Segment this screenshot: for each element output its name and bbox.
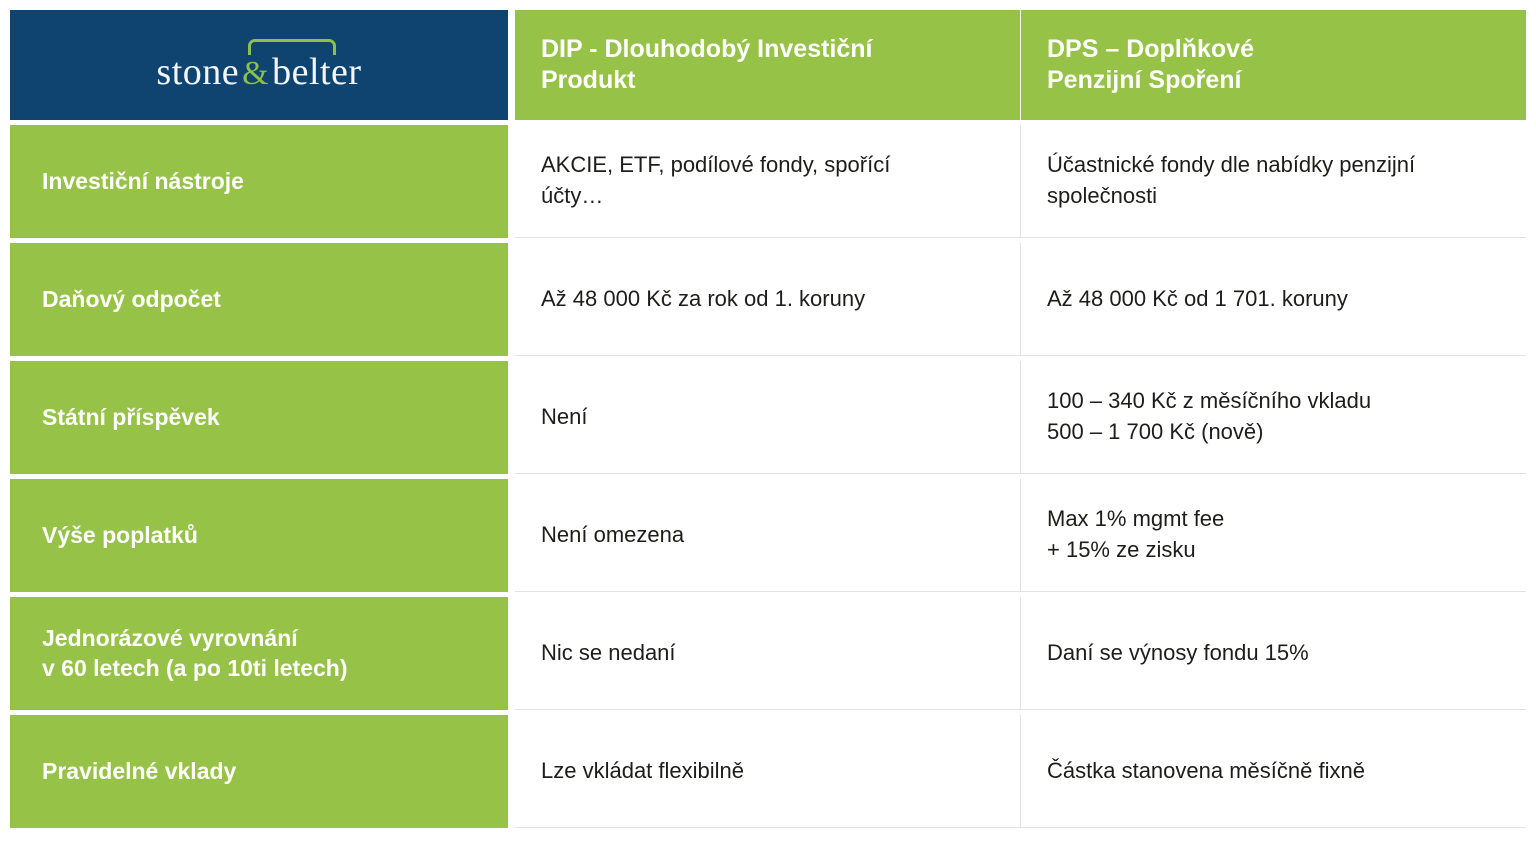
comparison-table: stone&belter DIP - Dlouhodobý Investiční… xyxy=(10,10,1526,835)
table-cell-dip: Lze vkládat flexibilně xyxy=(515,715,1020,828)
cell-value: Až 48 000 Kč za rok od 1. koruny xyxy=(541,284,865,315)
table-cell-dip: Nic se nedaní xyxy=(515,597,1020,710)
row-label: Investiční nástroje xyxy=(42,167,244,197)
logo-text: stone&belter xyxy=(156,51,361,93)
table-cell-dps: Částka stanovena měsíčně fixně xyxy=(1021,715,1526,828)
column-gap xyxy=(508,479,515,592)
row-label: Daňový odpočet xyxy=(42,285,221,315)
column-gap xyxy=(508,597,515,710)
cell-value: Částka stanovena měsíčně fixně xyxy=(1047,756,1365,787)
table-cell-dps: Max 1% mgmt fee + 15% ze zisku xyxy=(1021,479,1526,592)
table-row-label-statni-prispevek: Státní příspěvek xyxy=(10,361,508,474)
table-cell-dip: Až 48 000 Kč za rok od 1. koruny xyxy=(515,243,1020,356)
table-cell-dps: Daní se výnosy fondu 15% xyxy=(1021,597,1526,710)
column-header-dip: DIP - Dlouhodobý Investiční Produkt xyxy=(515,10,1020,120)
cell-value: Až 48 000 Kč od 1 701. koruny xyxy=(1047,284,1348,315)
column-gap xyxy=(508,715,515,828)
column-gap xyxy=(508,243,515,356)
table-cell-dip: Není omezena xyxy=(515,479,1020,592)
table-cell-dps: 100 – 340 Kč z měsíčního vkladu 500 – 1 … xyxy=(1021,361,1526,474)
row-label: Státní příspěvek xyxy=(42,403,220,433)
column-header-dip-label: DIP - Dlouhodobý Investiční Produkt xyxy=(541,34,873,97)
table-cell-dps: Až 48 000 Kč od 1 701. koruny xyxy=(1021,243,1526,356)
cell-value: Není xyxy=(541,402,587,433)
table-row-label-danovy-odpocet: Daňový odpočet xyxy=(10,243,508,356)
table-row-label-pravidelne-vklady: Pravidelné vklady xyxy=(10,715,508,828)
logo-word-belter: belter xyxy=(272,51,362,93)
cell-value: Daní se výnosy fondu 15% xyxy=(1047,638,1309,669)
logo-word-stone: stone xyxy=(156,51,239,93)
row-label: Jednorázové vyrovnání v 60 letech (a po … xyxy=(42,624,348,684)
logo-ampersand: & xyxy=(239,55,272,92)
cell-value: 100 – 340 Kč z měsíčního vkladu 500 – 1 … xyxy=(1047,386,1371,448)
table-row-label-investicni-nastroje: Investiční nástroje xyxy=(10,125,508,238)
stone-belter-logo: stone&belter xyxy=(156,39,361,91)
row-label: Výše poplatků xyxy=(42,521,198,551)
table-row-label-vyse-poplatku: Výše poplatků xyxy=(10,479,508,592)
cell-value: Nic se nedaní xyxy=(541,638,676,669)
brand-logo-cell: stone&belter xyxy=(10,10,508,120)
column-gap xyxy=(508,10,515,120)
table-cell-dps: Účastnické fondy dle nabídky penzijní sp… xyxy=(1021,125,1526,238)
table-cell-dip: AKCIE, ETF, podílové fondy, spořící účty… xyxy=(515,125,1020,238)
column-header-dps-label: DPS – Doplňkové Penzijní Spoření xyxy=(1047,34,1254,97)
logo-bracket-icon xyxy=(248,39,336,55)
cell-value: Lze vkládat flexibilně xyxy=(541,756,744,787)
table-row-label-jednorazove-vyrovnani: Jednorázové vyrovnání v 60 letech (a po … xyxy=(10,597,508,710)
column-gap xyxy=(508,125,515,238)
cell-value: Není omezena xyxy=(541,520,684,551)
row-label: Pravidelné vklady xyxy=(42,757,236,787)
table-cell-dip: Není xyxy=(515,361,1020,474)
cell-value: Max 1% mgmt fee + 15% ze zisku xyxy=(1047,504,1224,566)
column-gap xyxy=(508,361,515,474)
cell-value: AKCIE, ETF, podílové fondy, spořící účty… xyxy=(541,150,890,212)
cell-value: Účastnické fondy dle nabídky penzijní sp… xyxy=(1047,150,1415,212)
column-header-dps: DPS – Doplňkové Penzijní Spoření xyxy=(1021,10,1526,120)
